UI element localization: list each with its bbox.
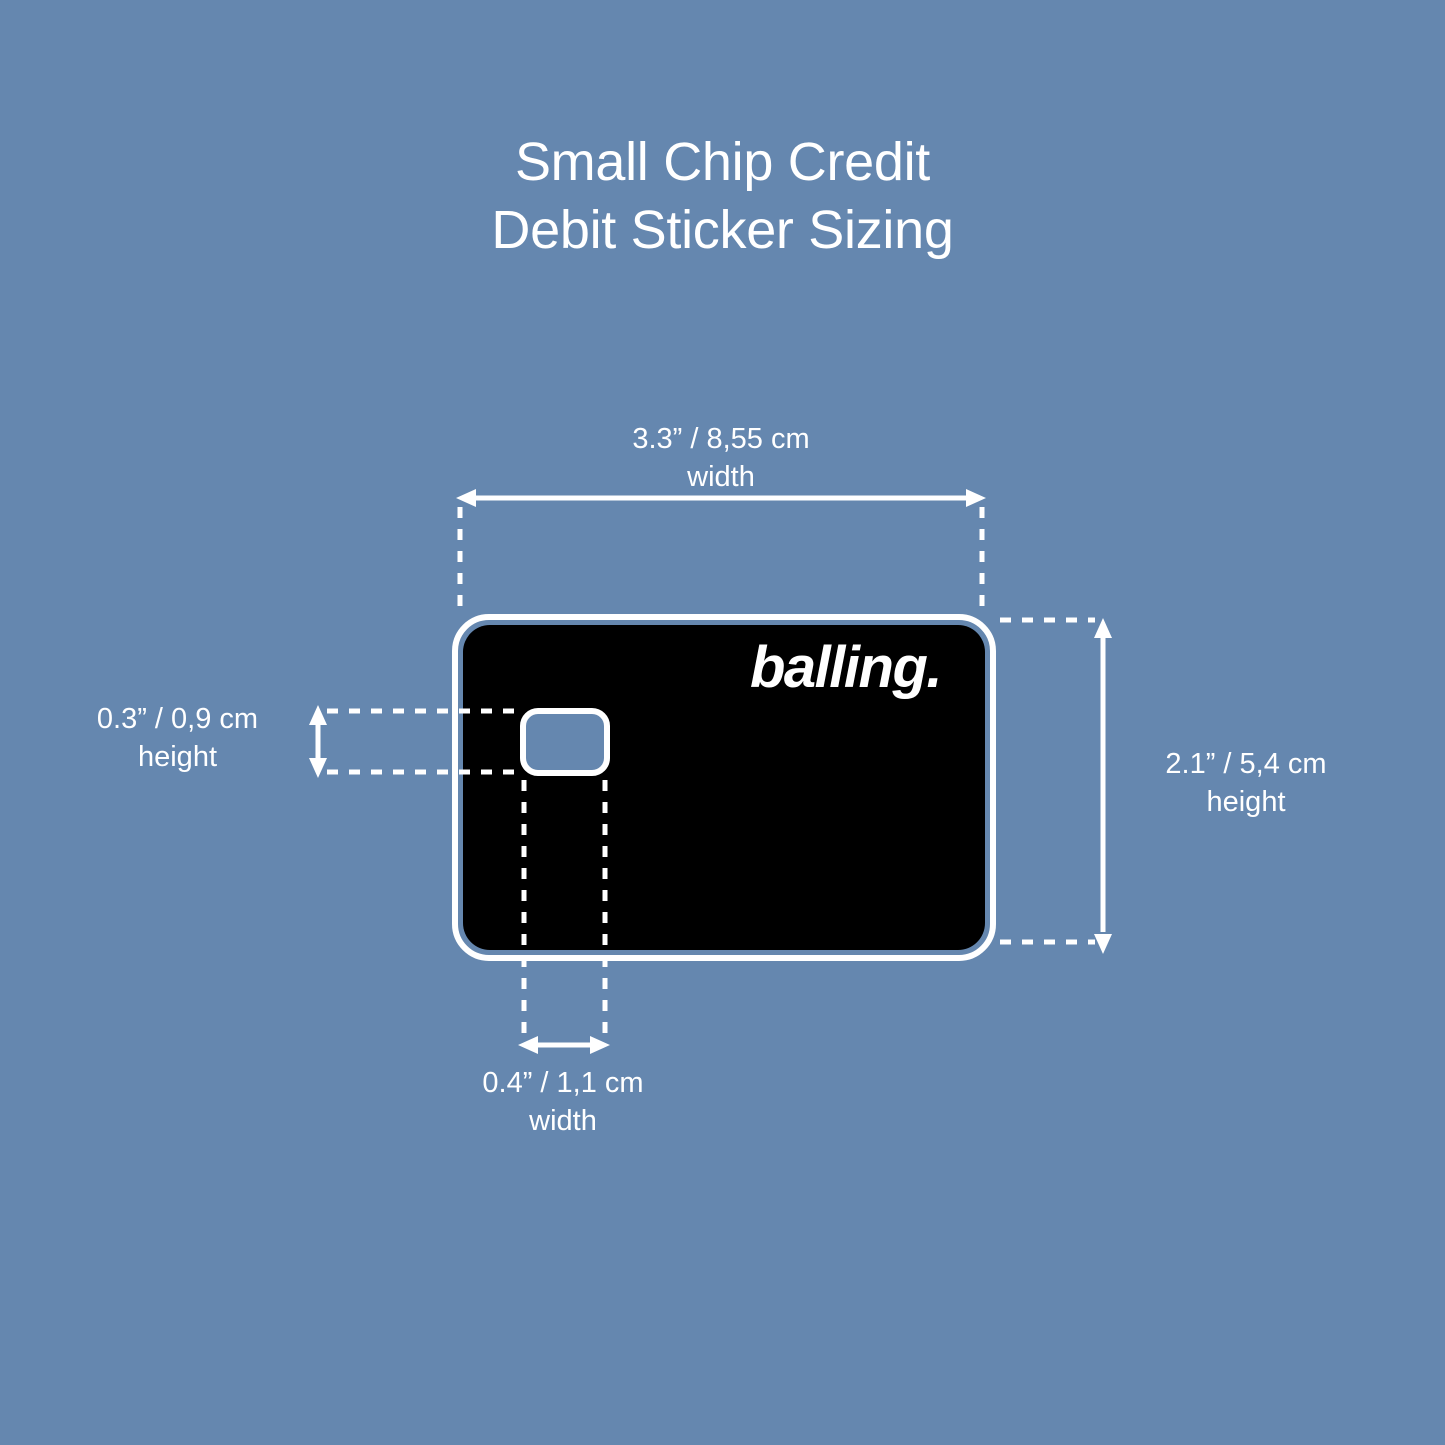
dimension-label-top-width: 3.3” / 8,55 cm width xyxy=(521,420,921,496)
sticker-sizing-diagram: Small Chip Credit Debit Sticker Sizing xyxy=(0,0,1445,1445)
card-brand-logo: balling. xyxy=(750,637,941,699)
right-height-arrow xyxy=(1094,618,1112,954)
dimension-label-left-chip-height: 0.3” / 0,9 cm height xyxy=(55,700,300,776)
bottom-chip-width-arrow xyxy=(518,1036,610,1054)
chip-cutout xyxy=(523,711,607,773)
dimension-label-right-height: 2.1” / 5,4 cm height xyxy=(1121,745,1371,821)
dimension-label-bottom-chip-width: 0.4” / 1,1 cm width xyxy=(413,1064,713,1140)
left-chip-height-arrow xyxy=(309,705,327,778)
